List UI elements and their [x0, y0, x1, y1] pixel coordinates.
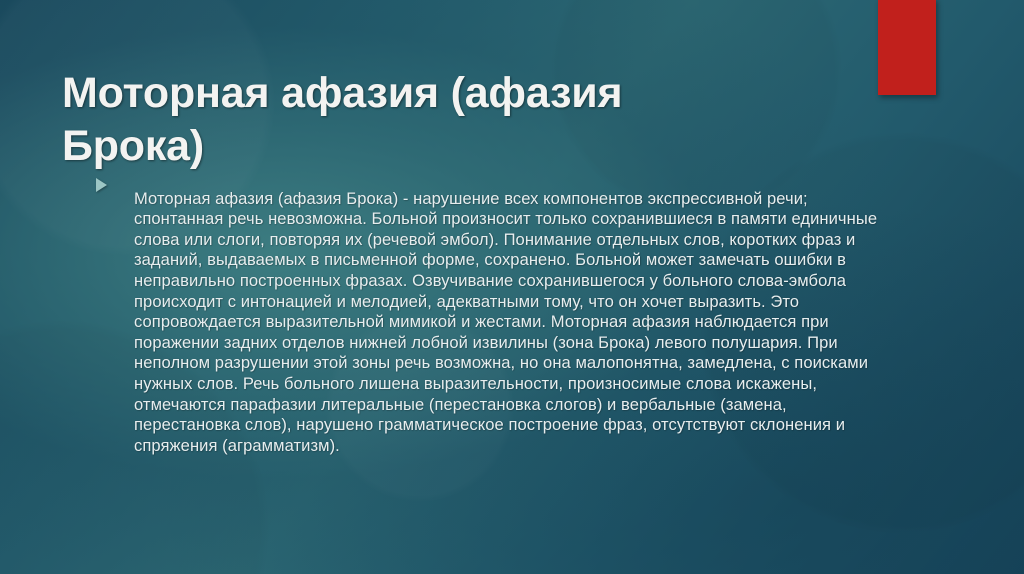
slide-title: Моторная афазия (афазия Брока) [62, 67, 762, 173]
presentation-slide: Моторная афазия (афазия Брока) Моторная … [0, 0, 1024, 574]
triangle-bullet-icon [96, 178, 107, 192]
slide-body-text: Моторная афазия (афазия Брока) - нарушен… [134, 189, 896, 457]
red-accent-bar [878, 0, 936, 95]
bullet-list-item: Моторная афазия (афазия Брока) - нарушен… [96, 172, 896, 473]
